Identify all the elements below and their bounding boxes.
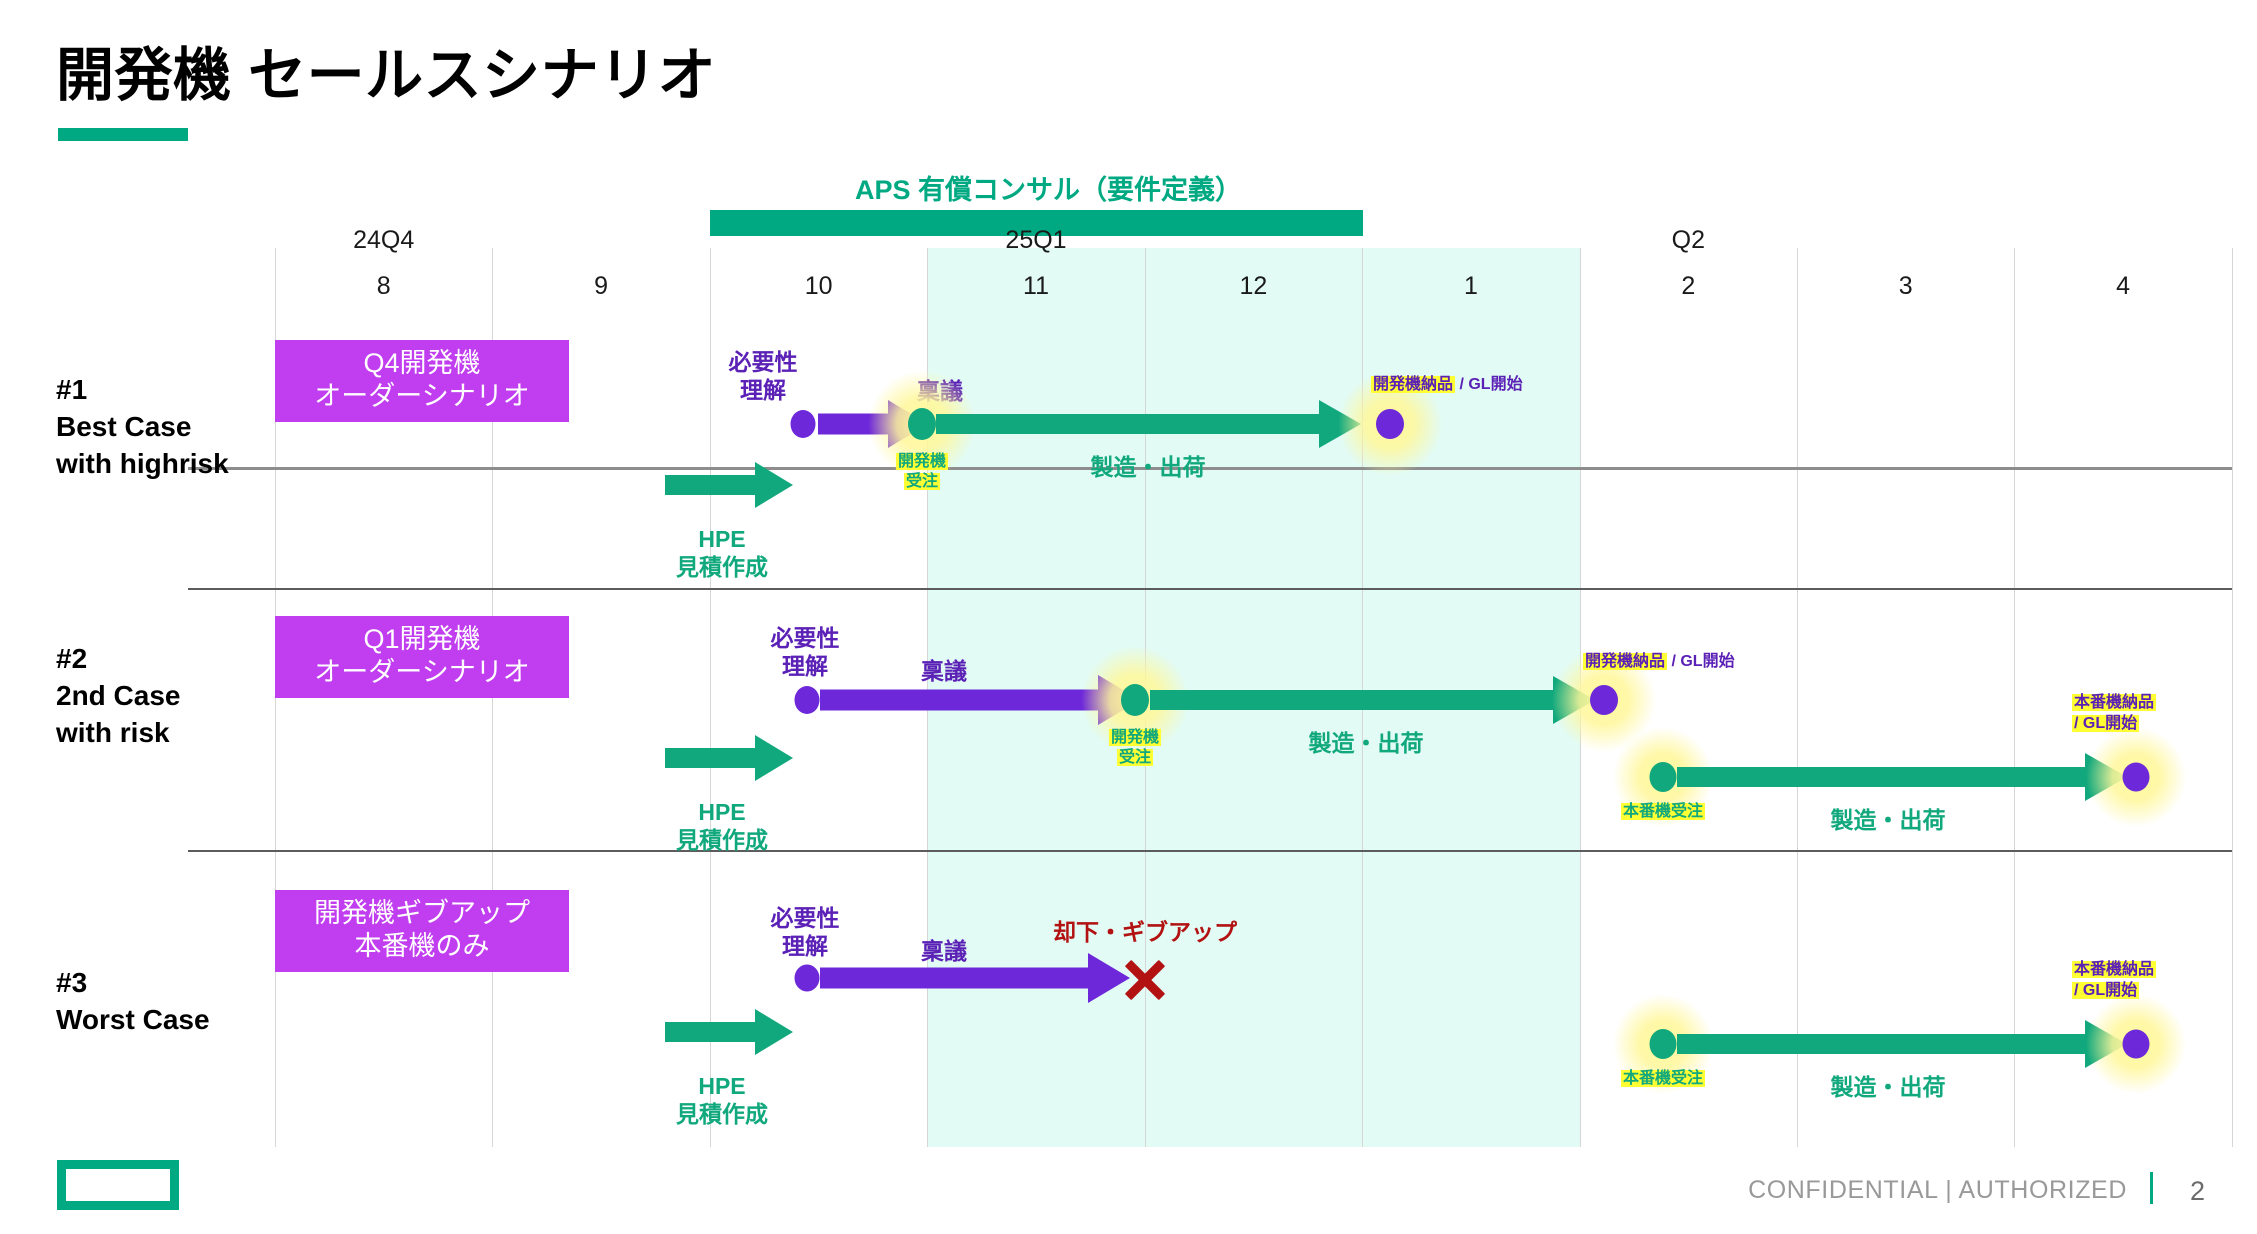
- delivery-highlight: 開発機納品: [1371, 376, 1455, 393]
- quarter-label-24q4: 24Q4: [353, 226, 414, 255]
- delivery-label-2: 開発機納品 / GL開始: [1583, 652, 1735, 672]
- badge-line: 開発機ギブアップ: [275, 897, 569, 930]
- page-title: 開発機 セールスシナリオ: [56, 28, 716, 112]
- hpe-quote-line: 見積作成: [676, 826, 768, 854]
- row-caption-line: with risk: [56, 715, 181, 752]
- hpe-quote-label-3: HPE 見積作成: [676, 1072, 768, 1128]
- row-caption-line: with highrisk: [56, 446, 229, 483]
- quarter-label-25q1: 25Q1: [1005, 226, 1066, 255]
- month-label-8: 8: [377, 272, 391, 301]
- month-label-1: 1: [1464, 272, 1478, 301]
- manufacture-label-2b: 製造・出荷: [1831, 806, 1946, 834]
- prod-order-dot-3: [1650, 1029, 1677, 1059]
- dev-order-line: 受注: [904, 473, 940, 490]
- necessity-line: 理解: [729, 376, 798, 404]
- row-caption-line: #2: [56, 641, 181, 678]
- row-caption-line: 2nd Case: [56, 678, 181, 715]
- prod-order-label-2: 本番機受注: [1621, 802, 1705, 822]
- arrow-head: [755, 462, 793, 508]
- necessity-line: 必要性: [771, 624, 840, 652]
- arrow-shaft: [820, 968, 1090, 989]
- month-label-11: 11: [1023, 272, 1049, 301]
- hpe-quote-line: HPE: [676, 1072, 768, 1100]
- grid-column-line: [2014, 248, 2015, 1147]
- row-divider: [188, 588, 2232, 590]
- delivery-tail: / GL開始: [1667, 653, 1735, 670]
- necessity-dot-1: [791, 410, 816, 438]
- prod-delivery-dot-3: [2123, 1030, 2150, 1059]
- reject-label-3: 却下・ギブアップ: [1053, 918, 1237, 946]
- delivery-dot-1: [1376, 409, 1404, 439]
- arrow-shaft: [936, 414, 1321, 434]
- consult-phase-label: APS 有償コンサル（要件定義）: [855, 168, 1242, 207]
- badge-line: Q1開発機: [275, 623, 569, 656]
- manufacture-label-2: 製造・出荷: [1309, 729, 1424, 757]
- arrow-shaft: [1677, 1034, 2087, 1054]
- scenario-badge-2[interactable]: Q1開発機 オーダーシナリオ: [275, 616, 569, 698]
- necessity-label-3: 必要性 理解: [771, 904, 840, 960]
- prod-order-label-3: 本番機受注: [1621, 1069, 1705, 1089]
- necessity-line: 理解: [771, 652, 840, 680]
- arrow-shaft: [665, 475, 757, 495]
- hpe-logo: [57, 1160, 179, 1210]
- row-caption-line: Worst Case: [56, 1002, 210, 1039]
- badge-line: オーダーシナリオ: [275, 380, 569, 413]
- hpe-quote-label-1: HPE 見積作成: [676, 525, 768, 581]
- prod-delivery-label-3: 本番機納品 / GL開始: [2072, 960, 2156, 1002]
- scenario-badge-1[interactable]: Q4開発機 オーダーシナリオ: [275, 340, 569, 422]
- necessity-line: 必要性: [729, 348, 798, 376]
- row-caption-line: #3: [56, 965, 210, 1002]
- prod-delivery-tail: / GL開始: [2072, 715, 2139, 732]
- prod-order-text: 本番機受注: [1621, 803, 1705, 820]
- arrow-head: [755, 1009, 793, 1055]
- prod-delivery-label-2: 本番機納品 / GL開始: [2072, 693, 2156, 735]
- timeline-axis-line: [188, 467, 2232, 470]
- prod-order-dot-2: [1650, 762, 1677, 792]
- prod-delivery-highlight: 本番機納品: [2072, 961, 2156, 978]
- arrow-shaft: [665, 748, 757, 768]
- delivery-dot-2: [1590, 685, 1618, 715]
- arrow-shaft: [1677, 767, 2087, 787]
- grid-column-line: [710, 248, 711, 1147]
- grid-column-line: [1797, 248, 1798, 1147]
- dev-order-label-2: 開発機 受注: [1109, 728, 1161, 767]
- ringi-label-2: 稟議: [921, 657, 967, 685]
- hpe-quote-line: 見積作成: [676, 1100, 768, 1128]
- badge-line: Q4開発機: [275, 347, 569, 380]
- dev-order-line: 開発機: [1109, 729, 1161, 746]
- dev-order-line: 受注: [1117, 749, 1153, 766]
- prod-delivery-dot-2: [2123, 763, 2150, 792]
- dev-order-line: 開発機: [896, 453, 948, 470]
- necessity-label-2: 必要性 理解: [771, 624, 840, 680]
- grid-column-line: [2232, 248, 2233, 1147]
- arrow-shaft: [820, 690, 1100, 711]
- prod-order-text: 本番機受注: [1621, 1070, 1705, 1087]
- hpe-quote-label-2: HPE 見積作成: [676, 798, 768, 854]
- month-label-3: 3: [1899, 272, 1913, 301]
- manufacture-label-3: 製造・出荷: [1831, 1073, 1946, 1101]
- hpe-quote-line: HPE: [676, 525, 768, 553]
- dev-order-dot-2: [1121, 684, 1149, 716]
- manufacture-label-1: 製造・出荷: [1091, 453, 1206, 481]
- badge-line: 本番機のみ: [275, 930, 569, 963]
- confidentiality-notice: CONFIDENTIAL | AUTHORIZED: [1748, 1176, 2127, 1205]
- hpe-quote-line: HPE: [676, 798, 768, 826]
- scenario-badge-3[interactable]: 開発機ギブアップ 本番機のみ: [275, 890, 569, 972]
- month-label-10: 10: [805, 272, 833, 301]
- delivery-label-1: 開発機納品 / GL開始: [1371, 375, 1523, 395]
- reject-x-icon: [1122, 957, 1168, 1003]
- title-accent-rule: [58, 128, 188, 141]
- row-caption-line: #1: [56, 372, 229, 409]
- necessity-dot-2: [795, 686, 820, 714]
- necessity-line: 理解: [771, 932, 840, 960]
- row-caption-2: #2 2nd Case with risk: [56, 641, 181, 752]
- delivery-tail: / GL開始: [1455, 376, 1523, 393]
- page-number: 2: [2190, 1176, 2205, 1207]
- dev-order-label-1: 開発機 受注: [896, 452, 948, 491]
- row-caption-line: Best Case: [56, 409, 229, 446]
- month-label-4: 4: [2116, 272, 2130, 301]
- row-caption-3: #3 Worst Case: [56, 965, 210, 1039]
- month-label-9: 9: [594, 272, 608, 301]
- necessity-label-1: 必要性 理解: [729, 348, 798, 404]
- arrow-shaft: [1150, 690, 1555, 710]
- necessity-line: 必要性: [771, 904, 840, 932]
- arrow-head: [755, 735, 793, 781]
- month-label-12: 12: [1239, 272, 1267, 301]
- hpe-quote-line: 見積作成: [676, 553, 768, 581]
- footer-divider: [2150, 1172, 2153, 1204]
- prod-delivery-tail: / GL開始: [2072, 982, 2139, 999]
- dev-order-dot-1: [908, 408, 936, 440]
- row-caption-1: #1 Best Case with highrisk: [56, 372, 229, 483]
- arrow-shaft: [665, 1022, 757, 1042]
- slide-canvas: 開発機 セールスシナリオ APS 有償コンサル（要件定義） 24Q4 25Q1 …: [0, 0, 2257, 1234]
- necessity-dot-3: [795, 965, 820, 992]
- badge-line: オーダーシナリオ: [275, 656, 569, 689]
- ringi-label-3: 稟議: [921, 937, 967, 965]
- delivery-highlight: 開発機納品: [1583, 653, 1667, 670]
- month-label-2: 2: [1681, 272, 1695, 301]
- row-divider: [188, 850, 2232, 852]
- prod-delivery-highlight: 本番機納品: [2072, 694, 2156, 711]
- quarter-label-q2: Q2: [1672, 226, 1705, 255]
